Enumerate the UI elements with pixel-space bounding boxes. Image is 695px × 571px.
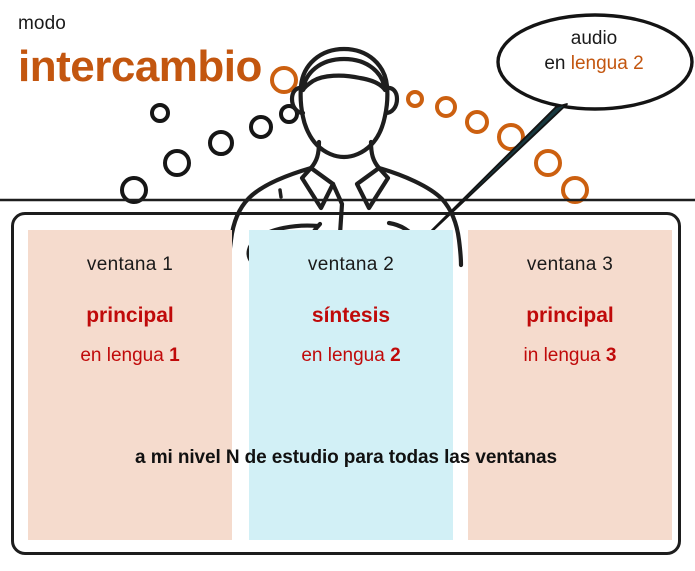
window-panel-1-role: principal: [28, 303, 232, 328]
window-panel-3-language: in lengua 3: [468, 345, 672, 368]
window-panel-2-body: ventana 2 síntesis en lengua 2: [249, 254, 453, 368]
footer-note: a mi nivel N de estudio para todas las v…: [11, 447, 681, 469]
window-panel-2-language-prefix: en lengua: [301, 345, 390, 366]
speech-bubble-line-2-prefix: en: [544, 53, 570, 74]
window-panel-1-title: ventana 1: [28, 254, 232, 277]
speech-bubble-line-1: audio: [509, 26, 679, 51]
window-panel-2-language: en lengua 2: [249, 345, 453, 368]
black-bubble-circles: [122, 105, 297, 202]
diagram-canvas: modo intercambio: [0, 0, 695, 571]
window-panel-2-title: ventana 2: [249, 254, 453, 277]
orange-bubble-circles-right: [408, 92, 587, 202]
window-panel-2[interactable]: ventana 2 síntesis en lengua 2: [249, 230, 453, 540]
window-panel-2-role: síntesis: [249, 303, 453, 328]
window-panel-2-language-number: 2: [390, 345, 401, 366]
window-panel-1-body: ventana 1 principal en lengua 1: [28, 254, 232, 368]
window-panel-1[interactable]: ventana 1 principal en lengua 1: [28, 230, 232, 540]
page-title: intercambio: [18, 44, 262, 90]
speech-bubble-line-2: en lengua 2: [509, 51, 679, 76]
window-panel-3[interactable]: ventana 3 principal in lengua 3: [468, 230, 672, 540]
window-panel-1-language-prefix: en lengua: [80, 345, 169, 366]
speech-bubble-line-2-highlight: lengua 2: [571, 53, 644, 74]
orange-bubble-circles: [272, 68, 296, 92]
window-panel-3-title: ventana 3: [468, 254, 672, 277]
window-panel-3-body: ventana 3 principal in lengua 3: [468, 254, 672, 368]
window-panel-3-language-number: 3: [606, 345, 617, 366]
header-eyebrow: modo: [18, 14, 66, 33]
window-panel-1-language-number: 1: [169, 345, 180, 366]
speech-bubble-text: audio en lengua 2: [509, 26, 679, 76]
window-panel-1-language: en lengua 1: [28, 345, 232, 368]
window-panel-3-language-prefix: in lengua: [524, 345, 606, 366]
window-panel-3-role: principal: [468, 303, 672, 328]
